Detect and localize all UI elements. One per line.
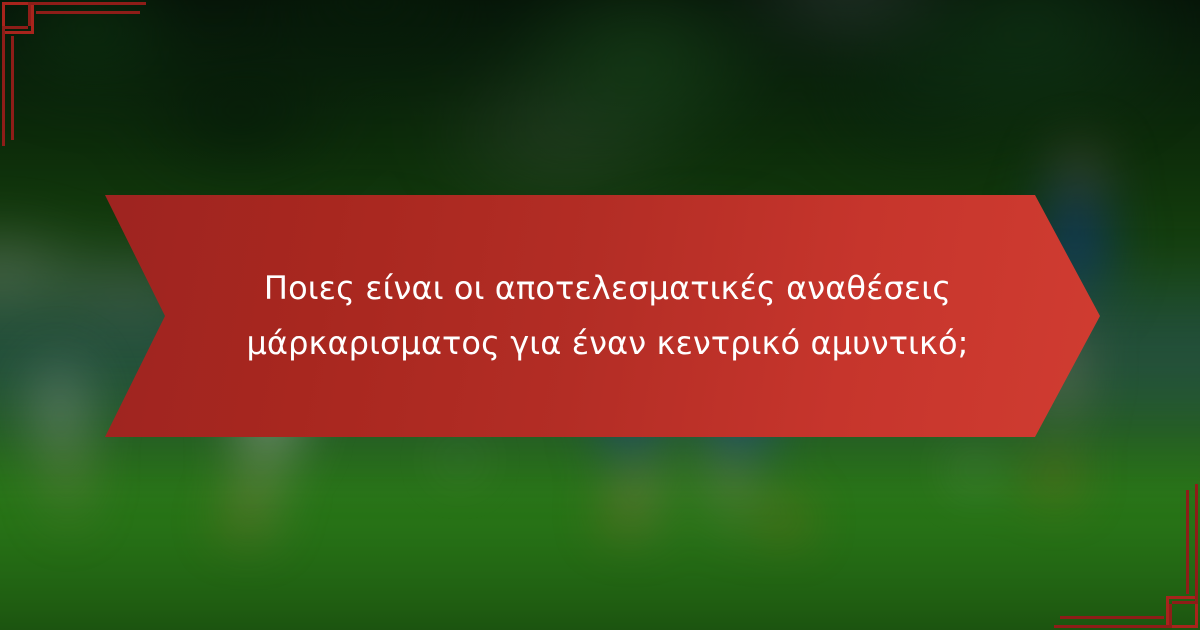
- arrow-ribbon-banner: Ποιες είναι οι αποτελεσματικές αναθέσεις…: [105, 195, 1100, 437]
- corner-line-horizontal-inner: [1060, 616, 1164, 619]
- corner-line-vertical-outer: [1195, 484, 1198, 602]
- corner-line-vertical-inner: [11, 36, 14, 140]
- corner-bracket-top-left: [0, 0, 150, 150]
- corner-line-horizontal-outer: [28, 2, 146, 5]
- corner-joint-horizontal: [2, 26, 28, 29]
- corner-line-vertical-inner: [1186, 490, 1189, 594]
- corner-line-vertical-outer: [2, 28, 5, 146]
- corner-line-horizontal-outer: [1054, 625, 1172, 628]
- page-title: Ποιες είναι οι αποτελεσματικές αναθέσεις…: [158, 261, 1048, 371]
- corner-line-horizontal-inner: [36, 11, 140, 14]
- corner-joint-horizontal: [1172, 601, 1198, 604]
- corner-joint-vertical: [1169, 604, 1172, 628]
- share-card: Ποιες είναι οι αποτελεσματικές αναθέσεις…: [0, 0, 1200, 630]
- corner-bracket-bottom-right: [1050, 480, 1200, 630]
- corner-joint-vertical: [28, 2, 31, 26]
